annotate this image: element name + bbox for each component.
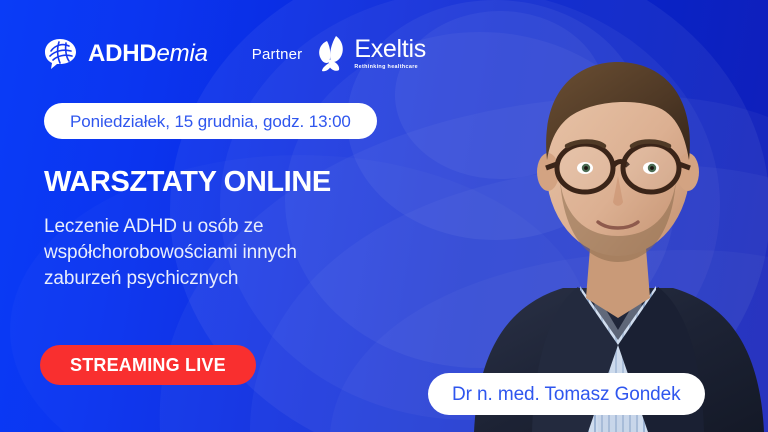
event-date-pill: Poniedziałek, 15 grudnia, godz. 13:00 (44, 103, 377, 139)
exeltis-tagline: Rethinking healthcare (354, 65, 426, 70)
brand-name-light: emia (157, 40, 208, 67)
event-date-text: Poniedziałek, 15 grudnia, godz. 13:00 (70, 113, 351, 130)
streaming-live-label: STREAMING LIVE (70, 356, 226, 374)
adhdemia-logo[interactable]: ADHDemia (44, 38, 208, 70)
page-title: WARSZTATY ONLINE (44, 167, 331, 199)
exeltis-logo[interactable]: Exeltis Rethinking healthcare (316, 35, 426, 73)
speaker-name-text: Dr n. med. Tomasz Gondek (452, 385, 681, 404)
brain-speech-bubble-icon (44, 38, 78, 70)
streaming-live-button[interactable]: STREAMING LIVE (40, 345, 256, 385)
banner-header: ADHDemia Partner Exeltis Rethinking h (44, 28, 768, 80)
event-subtitle: Leczenie ADHD u osób ze współchorobowośc… (44, 214, 364, 291)
exeltis-butterfly-icon (316, 35, 347, 73)
partner-block: Partner Exeltis Rethinking healthcare (252, 35, 426, 73)
webinar-promo-banner: ADHDemia Partner Exeltis Rethinking h (0, 0, 768, 432)
exeltis-wordmark: Exeltis (354, 37, 426, 62)
speaker-name-pill: Dr n. med. Tomasz Gondek (428, 373, 705, 415)
brand-name-strong: ADHD (88, 40, 157, 67)
adhdemia-wordmark: ADHDemia (88, 42, 208, 66)
partner-label: Partner (252, 46, 303, 63)
exeltis-text: Exeltis Rethinking healthcare (354, 37, 426, 70)
